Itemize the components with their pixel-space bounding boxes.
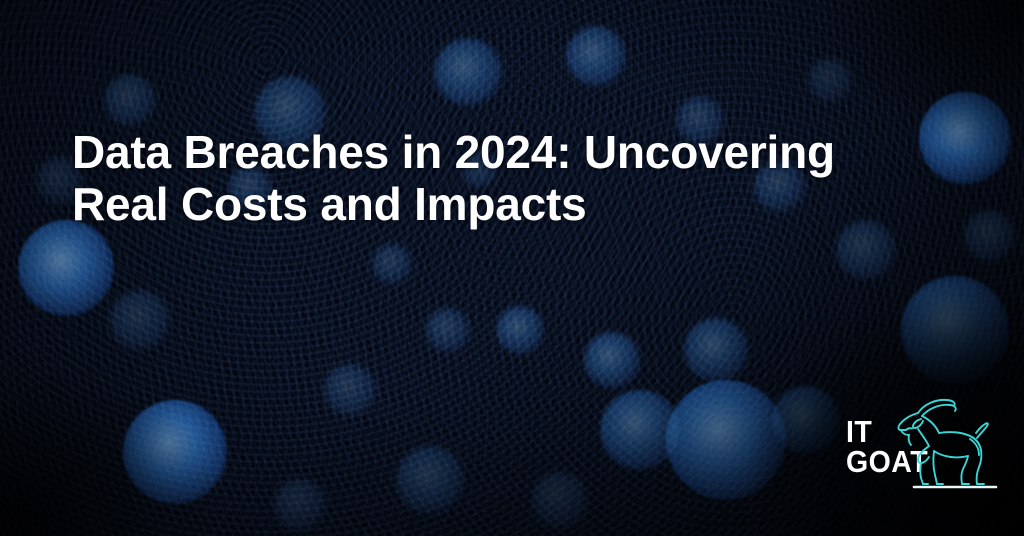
itgoat-logo[interactable]: IT GOAT xyxy=(846,393,1002,499)
hero-banner: Data Breaches in 2024: Uncovering Real C… xyxy=(0,0,1024,536)
goat-icon xyxy=(884,393,1002,493)
page-title: Data Breaches in 2024: Uncovering Real C… xyxy=(72,126,912,230)
